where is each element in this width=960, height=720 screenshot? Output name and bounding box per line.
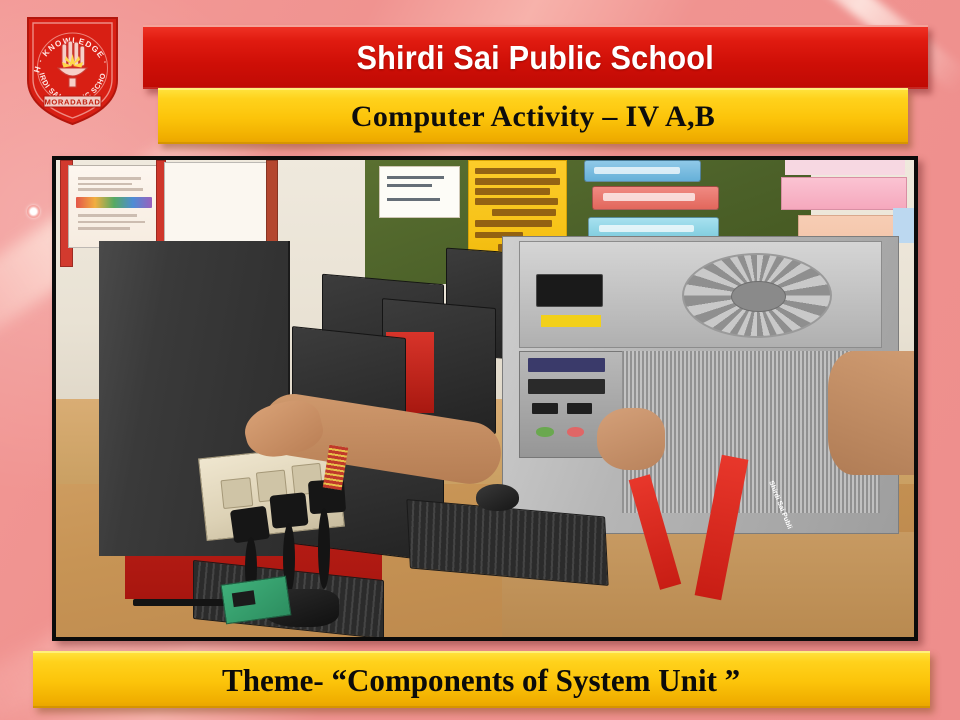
power-supply-fan [682, 253, 832, 338]
wall-sign-welcome-back [781, 177, 907, 210]
activity-photo: Shirdi Sai Public School [56, 160, 914, 637]
vga-port [528, 358, 605, 372]
school-title-banner: Shirdi Sai Public School [143, 25, 928, 89]
hand-on-chin [597, 408, 666, 470]
school-title-text: Shirdi Sai Public School [357, 39, 714, 77]
theme-text: Theme- “Components of System Unit ” [222, 662, 740, 699]
wall-book-cutout-top [584, 160, 702, 182]
school-logo: FAITH · KNOWLEDGE · DUTY SHIRDI SAI PUBL… [20, 8, 125, 130]
theme-banner: Theme- “Components of System Unit ” [33, 651, 930, 708]
activity-title-text: Computer Activity – IV A,B [351, 100, 715, 134]
voltage-selector-switch [541, 315, 601, 327]
decorative-dot [27, 205, 40, 218]
audio-jack-green [536, 427, 553, 437]
activity-photo-frame: Shirdi Sai Public School [52, 156, 918, 641]
audio-jack-red [567, 427, 584, 437]
presentation-slide: FAITH · KNOWLEDGE · DUTY SHIRDI SAI PUBL… [0, 0, 960, 720]
usb-port-1 [532, 403, 558, 413]
wall-sign-strip [785, 160, 905, 175]
usb-port-2 [567, 403, 593, 413]
cable-3 [318, 508, 330, 589]
activity-title-banner: Computer Activity – IV A,B [158, 88, 908, 144]
mouse [476, 484, 519, 510]
wall-book-cutout-determination [592, 186, 718, 210]
poster-computer-title [76, 197, 152, 208]
svg-text:MORADABAD: MORADABAD [44, 98, 100, 107]
wall-card-you-are-trying [379, 166, 460, 218]
power-connector-port [536, 274, 602, 307]
far-right-arm [828, 351, 914, 475]
serial-port [528, 379, 605, 393]
wall-poster-computer [68, 165, 160, 248]
